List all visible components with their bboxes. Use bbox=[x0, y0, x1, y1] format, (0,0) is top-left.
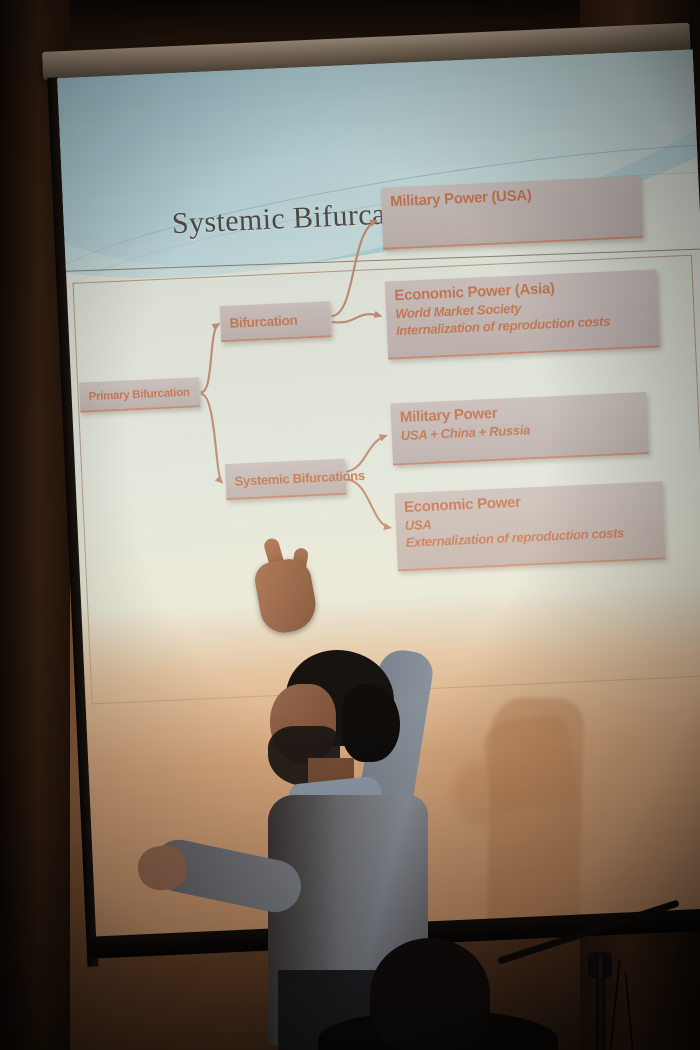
node-military-power[interactable]: Military Power USA + China + Russia bbox=[390, 392, 649, 466]
node-primary-bifurcation[interactable]: Primary Bifurcation bbox=[79, 377, 200, 412]
node-label: Systemic Bifurcations bbox=[234, 464, 337, 495]
node-systemic-bifurcations[interactable]: Systemic Bifurcations bbox=[225, 459, 347, 500]
presenter-shadow-hand bbox=[480, 712, 578, 814]
photo-scene: Systemic Bifurcations bbox=[0, 0, 700, 1050]
node-label: Bifurcation bbox=[229, 307, 322, 337]
microphone-stand-post bbox=[596, 955, 605, 1050]
node-military-power-usa[interactable]: Military Power (USA) bbox=[381, 176, 644, 250]
node-title: Military Power (USA) bbox=[390, 181, 633, 211]
node-bifurcation[interactable]: Bifurcation bbox=[220, 301, 332, 342]
node-label: Primary Bifurcation bbox=[88, 383, 191, 408]
node-economic-power-asia[interactable]: Economic Power (Asia) World Market Socie… bbox=[385, 269, 660, 359]
node-economic-power[interactable]: Economic Power USA Externalization of re… bbox=[394, 481, 665, 571]
audience-head bbox=[370, 938, 490, 1050]
presenter-hair-back bbox=[342, 684, 400, 762]
